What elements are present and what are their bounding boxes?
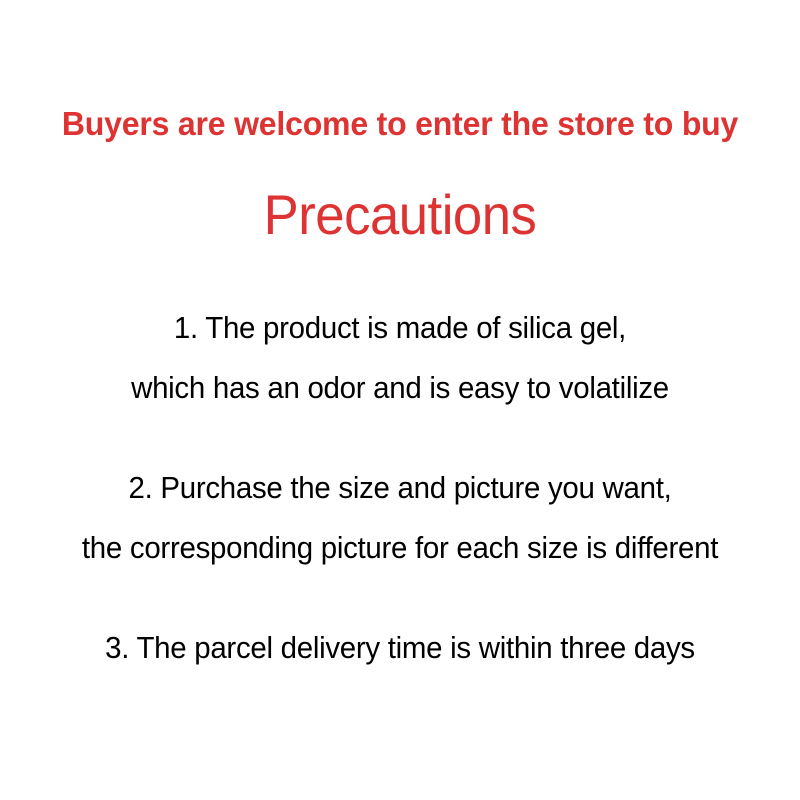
- precaution-item-line: 2. Purchase the size and picture you wan…: [20, 458, 780, 518]
- precautions-list: 1. The product is made of silica gel, wh…: [0, 298, 800, 678]
- precaution-item-line: which has an odor and is easy to volatil…: [20, 358, 780, 418]
- precaution-item: 2. Purchase the size and picture you wan…: [0, 458, 800, 578]
- precaution-item-line: 1. The product is made of silica gel,: [20, 298, 780, 358]
- precaution-item: 3. The parcel delivery time is within th…: [0, 618, 800, 678]
- welcome-message: Buyers are welcome to enter the store to…: [12, 104, 788, 144]
- precautions-notice-page: Buyers are welcome to enter the store to…: [0, 0, 800, 800]
- page-title: Precautions: [24, 186, 776, 244]
- precaution-item-line: 3. The parcel delivery time is within th…: [20, 618, 780, 678]
- precaution-item: 1. The product is made of silica gel, wh…: [0, 298, 800, 418]
- precaution-item-line: the corresponding picture for each size …: [20, 518, 780, 578]
- headline-block: Buyers are welcome to enter the store to…: [0, 104, 800, 244]
